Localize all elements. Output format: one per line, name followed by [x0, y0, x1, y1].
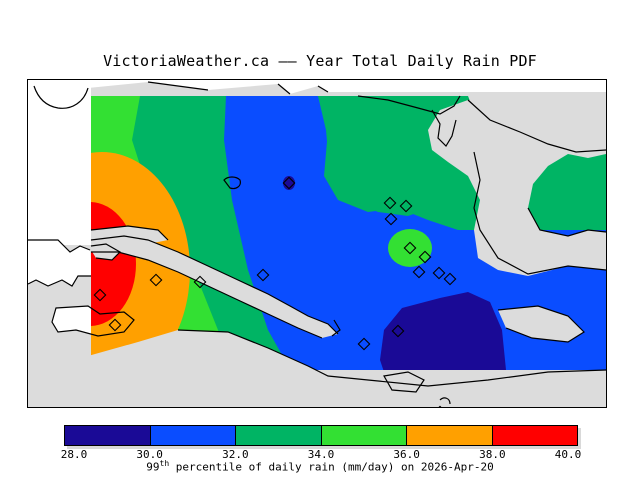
colorbar-band-0[interactable] — [65, 426, 150, 445]
band-34-36-ne-pocket — [388, 229, 432, 267]
colorbar-band-4[interactable] — [406, 426, 492, 445]
colorbar[interactable] — [64, 425, 578, 446]
page-title: VictoriaWeather.ca –– Year Total Daily R… — [0, 52, 640, 70]
map-frame[interactable] — [27, 79, 607, 408]
sea-west — [28, 80, 91, 245]
weather-map-page: VictoriaWeather.ca –– Year Total Daily R… — [0, 0, 640, 480]
colorbar-caption: 99th percentile of daily rain (mm/day) o… — [0, 459, 640, 474]
caption-prefix: 99 — [146, 461, 159, 474]
colorbar-band-1[interactable] — [150, 426, 236, 445]
contour-map-svg — [28, 80, 606, 407]
caption-rest: percentile of daily rain (mm/day) on 202… — [169, 461, 494, 474]
colorbar-band-2[interactable] — [235, 426, 321, 445]
caption-superscript: th — [160, 459, 170, 468]
colorbar-band-3[interactable] — [321, 426, 407, 445]
colorbar-cells[interactable] — [64, 425, 578, 446]
map-canvas[interactable] — [28, 80, 606, 407]
colorbar-band-5[interactable] — [492, 426, 578, 445]
